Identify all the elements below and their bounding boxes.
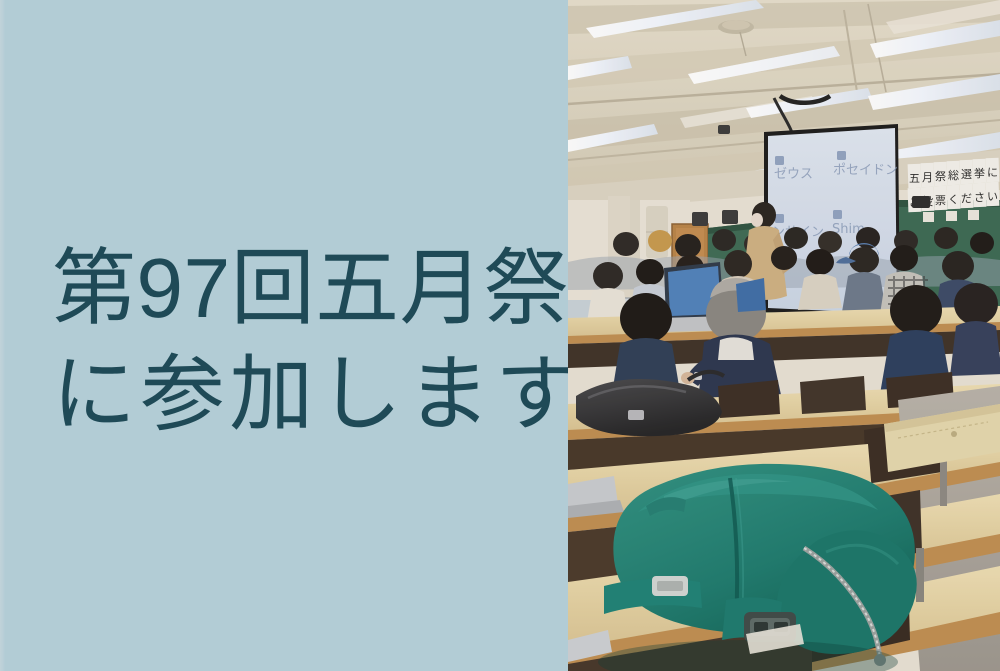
left-edge-strip <box>0 0 5 671</box>
title-panel: 第97回五月祭 に参加します <box>0 0 568 671</box>
title-line-2: に参加します <box>52 342 522 446</box>
page-title: 第97回五月祭 に参加します <box>52 236 522 446</box>
lecture-hall-photo: ゼウス ポセイドン ンサイン Shim 五 月 <box>568 0 1000 671</box>
photo-illustration: ゼウス ポセイドン ンサイン Shim 五 月 <box>568 0 1000 671</box>
title-line-1: 第97回五月祭 <box>52 236 522 340</box>
event-banner: 第97回五月祭 に参加します <box>0 0 1000 671</box>
